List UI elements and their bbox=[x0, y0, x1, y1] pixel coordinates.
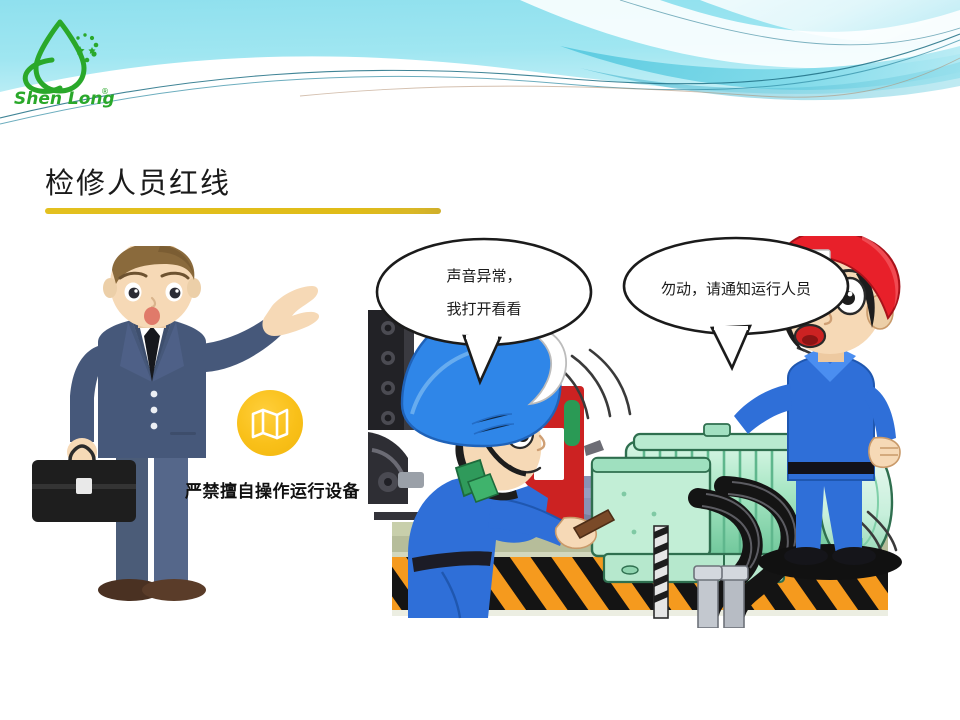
badge-caption: 严禁擅自操作运行设备 bbox=[170, 477, 375, 502]
title-underline-rule bbox=[45, 208, 441, 214]
maintenance-warning-illustration: 声音异常， 我打开看看 勿动，请通知运行人员 bbox=[368, 236, 948, 628]
warning-badge bbox=[237, 390, 303, 456]
slide-root: Shen Long ® 检修人员红线 bbox=[0, 0, 960, 720]
header-banner bbox=[0, 0, 960, 128]
right-leg bbox=[154, 452, 188, 586]
right-shoe bbox=[142, 579, 206, 601]
bubble1-line2: 我打开看看 bbox=[446, 300, 521, 318]
page-title: 检修人员红线 bbox=[45, 160, 231, 202]
logo-registered-mark: ® bbox=[101, 87, 109, 96]
folded-map-icon bbox=[237, 390, 303, 456]
bubble1-line1: 声音异常， bbox=[446, 267, 521, 285]
striped-shaft bbox=[654, 526, 668, 618]
bubble2-line1: 勿动，请通知运行人员 bbox=[661, 280, 811, 298]
logo-wordmark: Shen Long bbox=[14, 89, 115, 109]
shen-long-logo: Shen Long ® bbox=[8, 14, 116, 110]
right-hand bbox=[262, 286, 319, 336]
